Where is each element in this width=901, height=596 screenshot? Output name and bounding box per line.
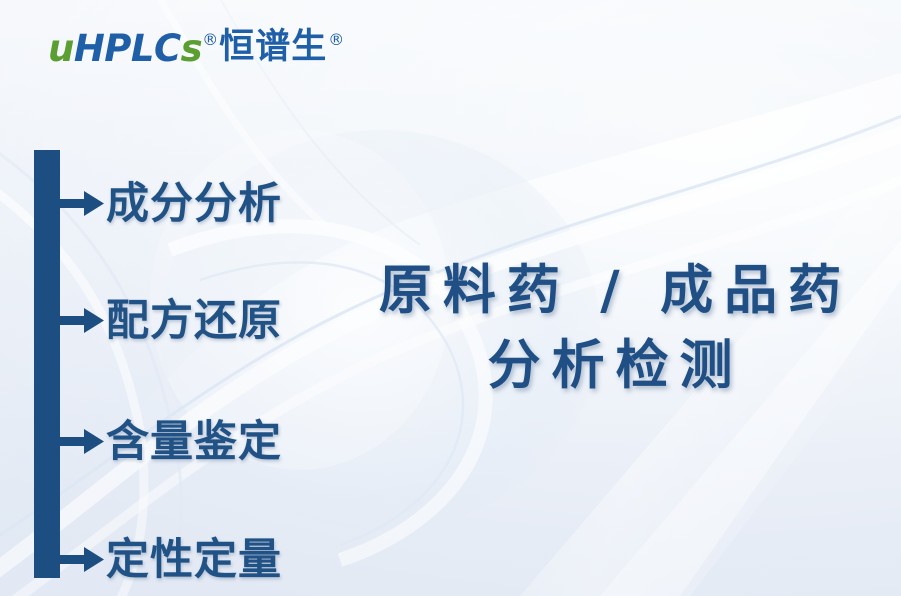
feature-list: 成分分析 配方还原 含量鉴定 定性定量 [34, 150, 364, 580]
registered-trademark-icon-2: ® [328, 32, 344, 48]
registered-trademark-icon: ® [202, 32, 218, 48]
feature-item-3[interactable]: 含量鉴定 [34, 413, 282, 471]
feature-label-4: 定性定量 [106, 539, 282, 582]
logo-letter-u: u [48, 27, 74, 70]
brand-logo: uHPLCs ® 恒谱生 ® [48, 30, 344, 67]
title-line-2: 分析检测 [340, 328, 880, 403]
main-title: 原料药 / 成品药 分析检测 [340, 253, 880, 404]
arrow-right-icon [34, 531, 108, 589]
logo-chinese-name: 恒谱生 [219, 30, 327, 65]
feature-item-4[interactable]: 定性定量 [34, 531, 282, 589]
feature-label-1: 成分分析 [106, 183, 282, 226]
promo-banner: uHPLCs ® 恒谱生 ® 成分分析 配方还原 [0, 0, 901, 596]
feature-label-3: 含量鉴定 [106, 421, 282, 464]
arrow-right-icon [34, 175, 108, 233]
feature-item-2[interactable]: 配方还原 [34, 292, 282, 350]
logo-letters-hplc: HPLC [74, 27, 181, 70]
arrow-right-icon [34, 292, 108, 350]
arrow-right-icon [34, 413, 108, 471]
logo-letter-s: s [181, 27, 203, 70]
title-line-1: 原料药 / 成品药 [340, 253, 880, 328]
feature-item-1[interactable]: 成分分析 [34, 175, 282, 233]
feature-label-2: 配方还原 [106, 300, 282, 343]
